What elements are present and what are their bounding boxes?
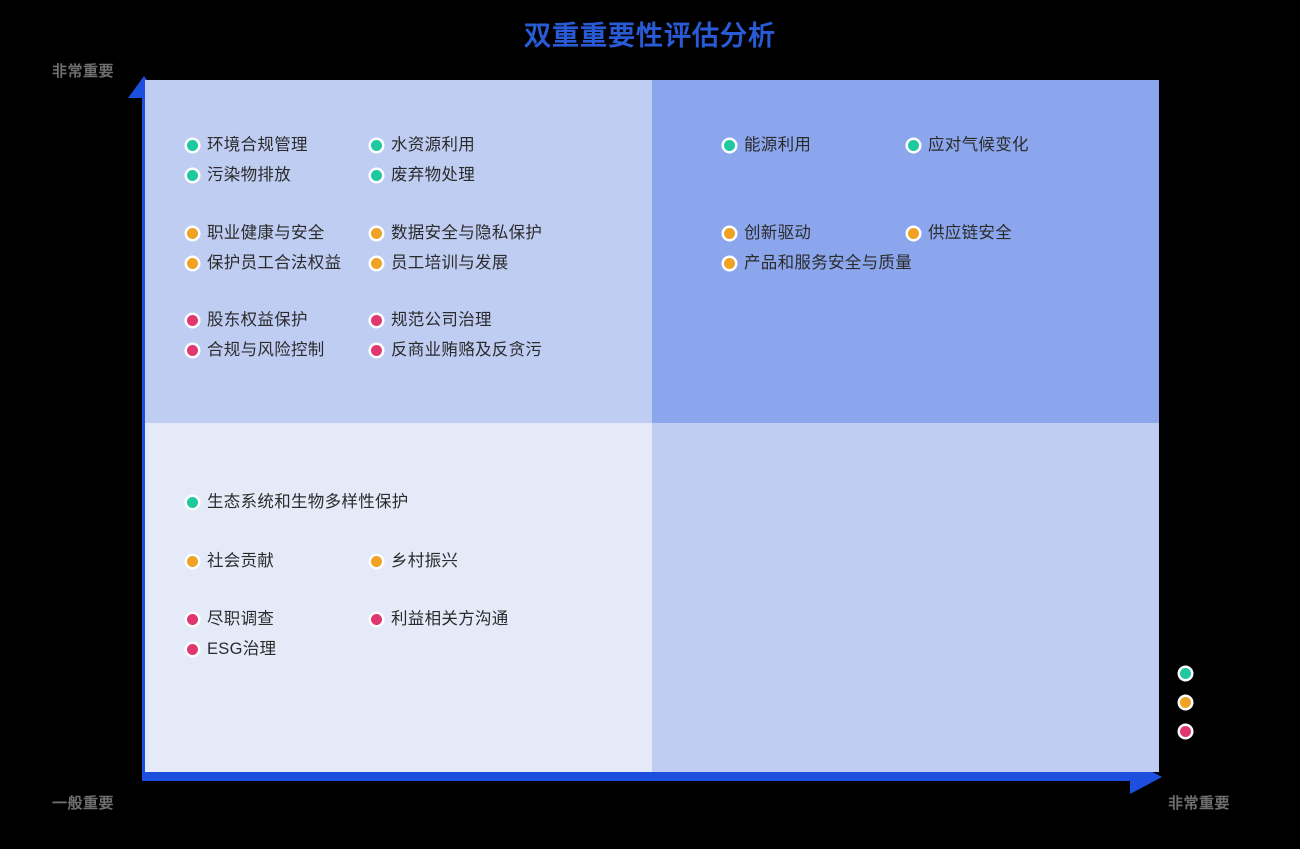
governance-dot-icon (371, 345, 382, 356)
matrix-item-label: 创新驱动 (744, 222, 811, 244)
matrix-item[interactable]: 合规与风险控制 (185, 339, 365, 361)
legend-item-governance[interactable] (1178, 726, 1199, 737)
matrix-item[interactable]: 保护员工合法权益 (185, 252, 365, 274)
governance-dot-icon (187, 614, 198, 625)
matrix-item[interactable]: 员工培训与发展 (369, 252, 542, 274)
matrix-item-label: 产品和服务安全与质量 (744, 252, 912, 274)
matrix-item[interactable]: 股东权益保护 (185, 309, 365, 331)
item-group-tl-social: 职业健康与安全 数据安全与隐私保护 保护员工合法权益 员工培训与发展 (185, 222, 542, 274)
social-dot-icon (371, 228, 382, 239)
matrix-item-label: 废弃物处理 (391, 164, 475, 186)
matrix-item[interactable]: ESG治理 (185, 638, 365, 660)
matrix-item[interactable]: 创新驱动 (722, 222, 902, 244)
governance-dot-icon (371, 315, 382, 326)
governance-dot-icon (1180, 726, 1191, 737)
matrix-item-label: ESG治理 (207, 638, 276, 660)
matrix-item-label: 应对气候变化 (928, 134, 1029, 156)
matrix-item[interactable]: 能源利用 (722, 134, 902, 156)
matrix-item-label: 生态系统和生物多样性保护 (207, 491, 409, 513)
matrix-item-label: 合规与风险控制 (207, 339, 325, 361)
matrix-item-label: 职业健康与安全 (207, 222, 325, 244)
environment-dot-icon (371, 170, 382, 181)
matrix-item[interactable]: 环境合规管理 (185, 134, 365, 156)
matrix-item[interactable]: 数据安全与隐私保护 (369, 222, 542, 244)
matrix-item[interactable]: 规范公司治理 (369, 309, 542, 331)
matrix-item-label: 利益相关方沟通 (391, 608, 509, 630)
item-row: 合规与风险控制 反商业贿赂及反贪污 (185, 339, 542, 361)
item-group-tl-environment: 环境合规管理 水资源利用 污染物排放 废弃物处理 (185, 134, 475, 186)
legend (1178, 668, 1199, 737)
matrix-item[interactable]: 尽职调查 (185, 608, 365, 630)
matrix-item[interactable]: 乡村振兴 (369, 550, 458, 572)
environment-dot-icon (1180, 668, 1191, 679)
governance-dot-icon (371, 614, 382, 625)
chart-title: 双重重要性评估分析 (0, 18, 1300, 54)
environment-dot-icon (908, 140, 919, 151)
matrix-item-label: 供应链安全 (928, 222, 1012, 244)
matrix-item[interactable]: 利益相关方沟通 (369, 608, 509, 630)
item-group-tl-governance: 股东权益保护 规范公司治理 合规与风险控制 反商业贿赂及反贪污 (185, 309, 542, 361)
environment-dot-icon (187, 497, 198, 508)
item-group-bl-governance: 尽职调查 利益相关方沟通 ESG治理 (185, 608, 509, 660)
item-group-tr-social: 创新驱动 供应链安全 产品和服务安全与质量 (722, 222, 1012, 274)
matrix-item[interactable]: 生态系统和生物多样性保护 (185, 491, 365, 513)
environment-dot-icon (371, 140, 382, 151)
social-dot-icon (1180, 697, 1191, 708)
item-group-bl-social: 社会贡献 乡村振兴 (185, 550, 458, 572)
social-dot-icon (187, 556, 198, 567)
matrix-item[interactable]: 供应链安全 (906, 222, 1012, 244)
item-row: ESG治理 (185, 638, 509, 660)
legend-item-environment[interactable] (1178, 668, 1199, 679)
social-dot-icon (908, 228, 919, 239)
matrix-item-label: 数据安全与隐私保护 (391, 222, 542, 244)
matrix-item[interactable]: 社会贡献 (185, 550, 365, 572)
matrix-item-label: 保护员工合法权益 (207, 252, 341, 274)
matrix-item-label: 员工培训与发展 (391, 252, 509, 274)
item-row: 创新驱动 供应链安全 (722, 222, 1012, 244)
item-row: 社会贡献 乡村振兴 (185, 550, 458, 572)
quadrant-bottom-right (652, 423, 1159, 772)
social-dot-icon (371, 258, 382, 269)
matrix-item[interactable]: 污染物排放 (185, 164, 365, 186)
matrix-item-label: 乡村振兴 (391, 550, 458, 572)
matrix-item-label: 环境合规管理 (207, 134, 308, 156)
social-dot-icon (187, 228, 198, 239)
matrix-item[interactable]: 水资源利用 (369, 134, 475, 156)
item-row: 尽职调查 利益相关方沟通 (185, 608, 509, 630)
matrix-item-label: 股东权益保护 (207, 309, 308, 331)
matrix-item[interactable]: 反商业贿赂及反贪污 (369, 339, 542, 361)
x-axis-right-label: 非常重要 (1168, 792, 1230, 813)
matrix-item[interactable]: 产品和服务安全与质量 (722, 252, 902, 274)
governance-dot-icon (187, 345, 198, 356)
matrix-item[interactable]: 废弃物处理 (369, 164, 475, 186)
x-axis-line (142, 772, 1142, 781)
matrix-item-label: 污染物排放 (207, 164, 291, 186)
matrix-item-label: 规范公司治理 (391, 309, 492, 331)
item-row: 污染物排放 废弃物处理 (185, 164, 475, 186)
matrix-item[interactable]: 职业健康与安全 (185, 222, 365, 244)
governance-dot-icon (187, 315, 198, 326)
matrix-item-label: 水资源利用 (391, 134, 475, 156)
item-row: 生态系统和生物多样性保护 (185, 491, 369, 513)
item-row: 环境合规管理 水资源利用 (185, 134, 475, 156)
item-group-bl-environment: 生态系统和生物多样性保护 (185, 491, 369, 513)
legend-item-social[interactable] (1178, 697, 1199, 708)
social-dot-icon (187, 258, 198, 269)
matrix-item-label: 尽职调查 (207, 608, 274, 630)
origin-label: 一般重要 (52, 792, 114, 813)
y-axis-top-label: 非常重要 (52, 60, 114, 81)
quadrant-bottom-left (145, 423, 652, 772)
governance-dot-icon (187, 644, 198, 655)
item-row: 产品和服务安全与质量 (722, 252, 1012, 274)
item-row: 保护员工合法权益 员工培训与发展 (185, 252, 542, 274)
item-row: 能源利用 应对气候变化 (722, 134, 1029, 156)
item-row: 职业健康与安全 数据安全与隐私保护 (185, 222, 542, 244)
matrix-item[interactable]: 应对气候变化 (906, 134, 1029, 156)
environment-dot-icon (724, 140, 735, 151)
item-group-tr-environment: 能源利用 应对气候变化 (722, 134, 1029, 156)
item-row: 股东权益保护 规范公司治理 (185, 309, 542, 331)
social-dot-icon (724, 228, 735, 239)
social-dot-icon (371, 556, 382, 567)
environment-dot-icon (187, 170, 198, 181)
matrix-item-label: 社会贡献 (207, 550, 274, 572)
environment-dot-icon (187, 140, 198, 151)
social-dot-icon (724, 258, 735, 269)
matrix-item-label: 能源利用 (744, 134, 811, 156)
matrix-item-label: 反商业贿赂及反贪污 (391, 339, 542, 361)
